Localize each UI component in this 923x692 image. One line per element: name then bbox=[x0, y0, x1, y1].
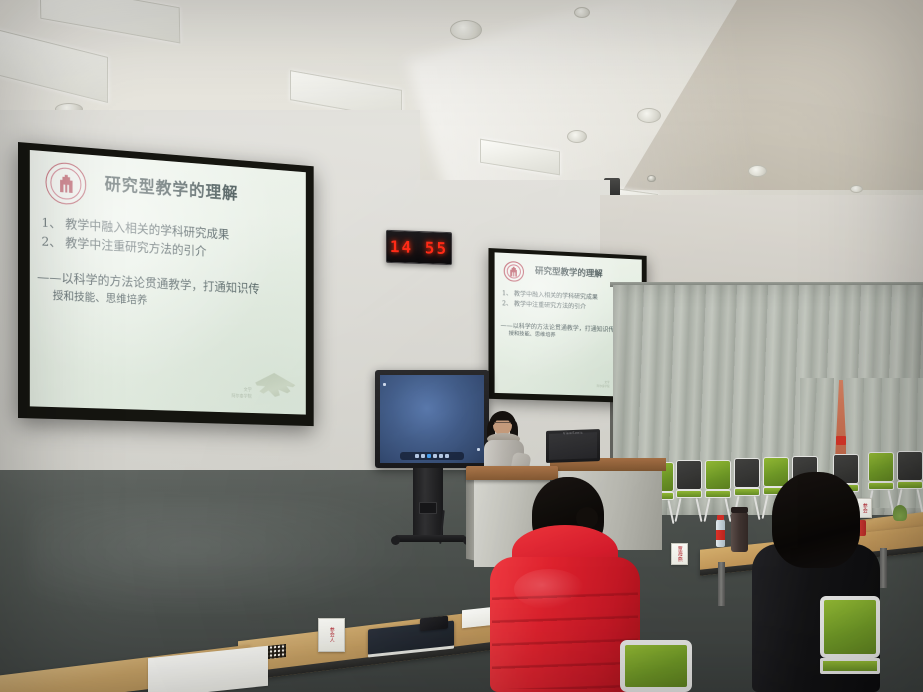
monitor-brand-label: ViewSonic bbox=[563, 431, 583, 436]
main-projection-screen: 研究型教学的理解 1、 教学中融入相关的学科研究成果 2、 教学中注重研究方法的… bbox=[18, 142, 314, 426]
chair-back bbox=[676, 460, 702, 490]
slide-title: 研究型教学的理解 bbox=[535, 264, 603, 279]
thermos[interactable] bbox=[731, 512, 748, 552]
taskbar[interactable] bbox=[400, 452, 464, 460]
name-card: 参会人 bbox=[318, 618, 345, 652]
watermark-line2: 阿尔泰学院 bbox=[597, 385, 610, 389]
taskbar-icon[interactable] bbox=[415, 454, 419, 458]
slide-note: ——以科学的方法论贯通教学，打通知识传 授和技能、思维培养 bbox=[37, 268, 297, 316]
linear-light-panel bbox=[40, 0, 181, 43]
clock-digits: 14 55 bbox=[390, 237, 448, 258]
name-card-text: 覃海燕 bbox=[676, 546, 683, 562]
connection-panel[interactable] bbox=[419, 502, 437, 514]
lecture-hall-photo: 研究型教学的理解 1、 教学中融入相关的学科研究成果 2、 教学中注重研究方法的… bbox=[0, 0, 923, 692]
floor-reflection bbox=[30, 500, 430, 620]
slide-bullet-list: 1、 教学中融入相关的学科研究成果 2、 教学中注重研究方法的引介 bbox=[41, 212, 229, 262]
chair-seat bbox=[820, 658, 880, 674]
dome-camera bbox=[647, 175, 656, 182]
chair-legs bbox=[676, 498, 702, 520]
recessed-downlight bbox=[574, 7, 590, 18]
table-leg bbox=[718, 562, 725, 606]
pagoda-gate-icon bbox=[254, 372, 295, 402]
flat-panel-bezel bbox=[375, 370, 489, 468]
slide-watermark: 文学 阿尔泰学院 bbox=[231, 371, 295, 402]
name-card: 覃海燕 bbox=[671, 543, 688, 565]
wall-digital-clock: 14 55 bbox=[386, 230, 452, 265]
linear-light-panel bbox=[0, 27, 108, 103]
display-stand-base bbox=[395, 535, 465, 542]
name-card-text: 参会人 bbox=[328, 627, 335, 643]
chair-back bbox=[705, 460, 731, 490]
chair-back bbox=[897, 451, 923, 481]
water-bottle[interactable] bbox=[716, 519, 725, 547]
jacket-highlight bbox=[514, 569, 584, 609]
glasses-icon bbox=[494, 422, 511, 426]
taskbar-icon[interactable] bbox=[445, 454, 449, 458]
taskbar-icon[interactable] bbox=[433, 454, 437, 458]
ceiling-speaker bbox=[748, 165, 767, 177]
chair-back bbox=[820, 596, 880, 658]
slide-title: 研究型教学的理解 bbox=[105, 170, 239, 204]
university-seal-logo bbox=[46, 161, 87, 206]
audience-hair bbox=[772, 472, 860, 568]
caster-wheel bbox=[391, 536, 400, 545]
taskbar-icon[interactable] bbox=[439, 454, 443, 458]
taskbar-icon[interactable] bbox=[421, 454, 425, 458]
watermark-line2: 阿尔泰学院 bbox=[231, 393, 251, 401]
chair-seat bbox=[676, 490, 702, 498]
podium-monitor-screen[interactable] bbox=[549, 432, 597, 460]
chair-seat bbox=[897, 481, 923, 489]
recessed-downlight bbox=[850, 185, 863, 193]
desktop-icon[interactable] bbox=[383, 383, 386, 386]
qr-code-icon bbox=[268, 644, 286, 659]
ceiling-speaker bbox=[637, 108, 661, 123]
podium-monitor[interactable]: ViewSonic bbox=[546, 429, 600, 463]
ceiling-speaker bbox=[567, 130, 587, 143]
desk-plant bbox=[893, 505, 907, 521]
exterior-sign bbox=[836, 436, 846, 445]
chair-back bbox=[620, 640, 692, 692]
ceiling-speaker bbox=[450, 20, 482, 40]
chair-seat bbox=[705, 490, 731, 498]
flat-panel-screen[interactable] bbox=[380, 375, 484, 463]
taskbar-icon-active[interactable] bbox=[427, 454, 431, 458]
presentation-slide: 研究型教学的理解 1、 教学中融入相关的学科研究成果 2、 教学中注重研究方法的… bbox=[30, 150, 306, 415]
university-seal-logo bbox=[504, 261, 524, 282]
slide-bullet-list: 1、 教学中融入相关的学科研究成果 2、 教学中注重研究方法的引介 bbox=[502, 289, 598, 313]
